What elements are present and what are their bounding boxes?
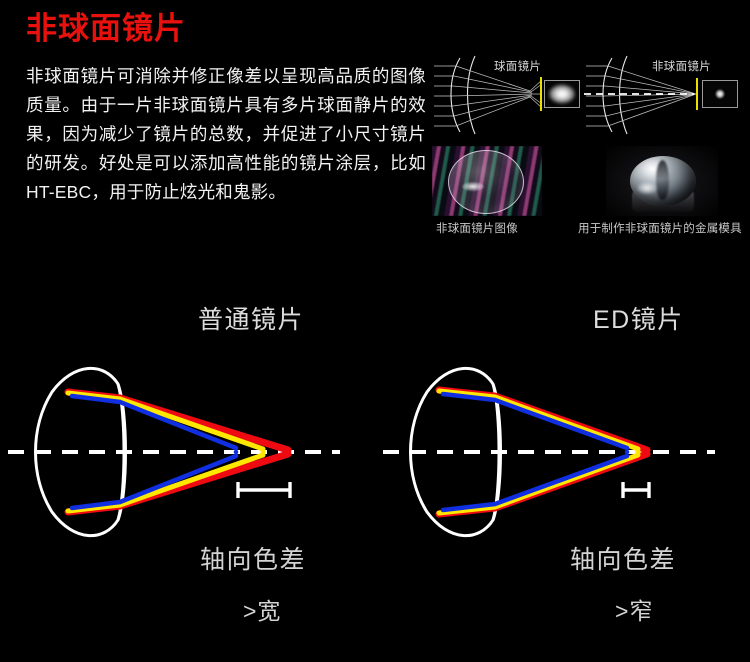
ed-lens-diagram <box>375 262 750 662</box>
photo-cell-lens: 非球面镜片图像 <box>432 146 584 242</box>
spherical-lens-label: 球面镜片 <box>494 58 541 74</box>
ray-diagram-aspherical: 非球面镜片 <box>584 44 742 144</box>
metal-mold-photo <box>606 146 718 216</box>
photo-cell-mold: 用于制作非球面镜片的金属模具 <box>578 146 730 242</box>
aspherical-lens-label: 非球面镜片 <box>652 58 711 74</box>
glass-highlight <box>462 182 484 191</box>
aspherical-sensor-frame <box>702 80 738 108</box>
ed-width-label: >窄 <box>615 592 653 626</box>
lens-photo-caption: 非球面镜片图像 <box>436 220 518 236</box>
panel-ed-lens: ED镜片 <box>375 262 750 662</box>
ray-diagram-strip: 球面镜片 <box>432 44 748 144</box>
ordinary-lens-diagram <box>0 262 375 662</box>
glass-lens-disc <box>448 150 524 214</box>
aberration-measure-bar-ordinary <box>238 482 290 498</box>
page-title: 非球面镜片 <box>26 13 186 44</box>
photo-strip: 非球面镜片图像 用于制作非球面镜片的金属模具 <box>432 146 748 242</box>
panel-ordinary-lens: 普通镜片 <box>0 262 375 662</box>
blurred-focus-spot <box>549 85 575 104</box>
ordinary-aberration-label: 轴向色差 <box>200 540 306 576</box>
aspherical-lens-photo <box>432 146 542 216</box>
ray-diagram-spherical: 球面镜片 <box>432 44 590 144</box>
top-section: 非球面镜片 非球面镜片可消除并修正像差以呈现高品质的图像质量。由于一片非球面镜片… <box>0 0 750 262</box>
mold-highlight <box>637 182 657 194</box>
mold-crease <box>656 160 669 200</box>
body-paragraph: 非球面镜片可消除并修正像差以呈现高品质的图像质量。由于一片非球面镜片具有多片球面… <box>26 62 426 207</box>
ed-aberration-label: 轴向色差 <box>570 540 676 576</box>
infographic-page: 非球面镜片 非球面镜片可消除并修正像差以呈现高品质的图像质量。由于一片非球面镜片… <box>0 0 750 662</box>
ordinary-width-label: >宽 <box>243 592 281 626</box>
aberration-measure-bar-ed <box>623 482 649 498</box>
spherical-sensor-frame <box>544 80 580 108</box>
comparison-section: 普通镜片 <box>0 262 750 662</box>
sharp-focus-spot <box>716 90 725 99</box>
mold-photo-caption: 用于制作非球面镜片的金属模具 <box>578 220 742 236</box>
